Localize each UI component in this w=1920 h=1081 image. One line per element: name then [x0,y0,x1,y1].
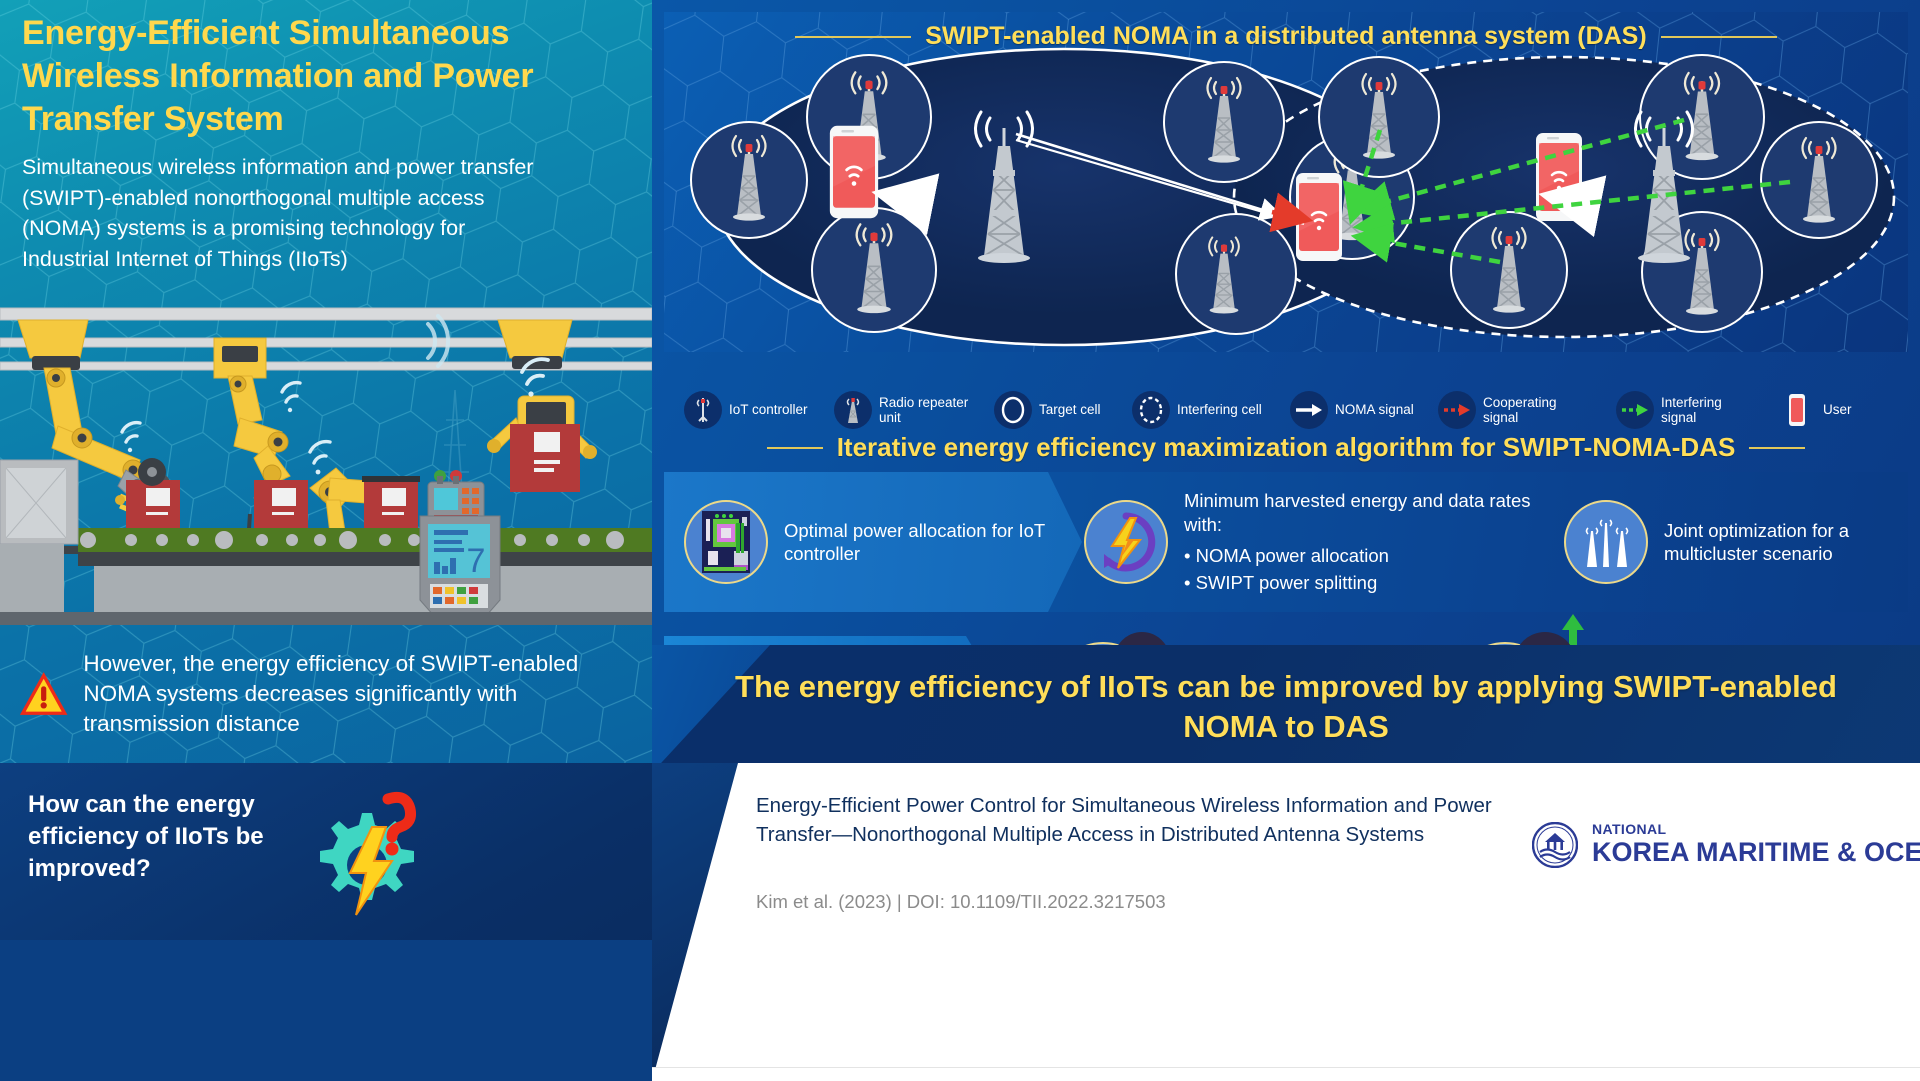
interfering-cell-icon [1132,391,1170,429]
paper-title: Energy-Efficient Power Control for Simul… [756,791,1516,849]
algorithm-step-2-bullet-1: • NOMA power allocation [1184,544,1534,567]
legend-label: Interfering signal [1661,395,1759,425]
footer-card: Energy-Efficient Power Control for Simul… [652,763,1920,1081]
legend-item-radio-repeater: Radio repeater unit [834,391,994,429]
algorithm-title: Iterative energy efficiency maximization… [837,432,1736,463]
left-column: Energy-Efficient Simultaneous Wireless I… [0,0,652,940]
iot-controller-icon [684,391,722,429]
warning-text: However, the energy efficiency of SWIPT-… [83,649,634,738]
algorithm-band: Optimal power allocation for IoT control… [664,472,1908,612]
legend-item-interfering-cell: Interfering cell [1132,391,1290,429]
legend-label: IoT controller [729,402,808,417]
title-rule-left [795,36,911,38]
gear-lightning-question-icon [300,791,440,926]
radio-repeater-icon [834,391,872,429]
legend-label: Cooperating signal [1483,395,1581,425]
noma-signal-arrow-icon [1290,391,1328,429]
algorithm-step-1-text: Optimal power allocation for IoT control… [784,519,1082,566]
conclusion-text: The energy efficiency of IIoTs can be im… [652,667,1920,748]
algorithm-step-2-bullet-2: • SWIPT power splitting [1184,571,1534,594]
numerical-band: Numerical simulations of SWIPT-NOMA-DAS … [652,628,1920,645]
algo-rule-left [767,447,823,449]
network-diagram: SWIPT-enabled NOMA in a distributed ante… [664,12,1908,352]
legend-item-cooperating-signal: Cooperating signal [1438,391,1616,429]
algo-rule-right [1749,447,1805,449]
diagram-panel: SWIPT-enabled NOMA in a distributed ante… [652,0,1920,645]
question-text: How can the energy efficiency of IIoTs b… [28,789,328,885]
paper-citation[interactable]: Kim et al. (2023) | DOI: 10.1109/TII.202… [756,891,1516,913]
legend-label: Interfering cell [1177,402,1262,417]
logo-national-label: NATIONAL [1592,821,1920,837]
legend: IoT controller Radio repeater unit Targe… [652,388,1920,432]
legend-item-interfering-signal: Interfering signal [1616,391,1778,429]
algorithm-step-1: Optimal power allocation for IoT control… [664,472,1082,612]
energy-bolt-cycle-icon [1084,500,1168,584]
algorithm-step-2-text: Minimum harvested energy and data rates … [1184,489,1534,594]
algorithm-step-3-text: Joint optimization for a multicluster sc… [1664,519,1908,566]
legend-label: NOMA signal [1335,402,1414,417]
svg-text:7: 7 [467,542,486,580]
user-phone-icon [1778,391,1816,429]
algorithm-step-2-lead: Minimum harvested energy and data rates … [1184,490,1531,534]
kmou-seal-icon [1532,822,1578,868]
infographic-root: Energy-Efficient Simultaneous Wireless I… [0,0,1920,1081]
footer-baseline [652,1067,1920,1081]
algorithm-step-2: Minimum harvested energy and data rates … [1064,472,1534,612]
legend-item-noma-signal: NOMA signal [1290,391,1438,429]
legend-label: Radio repeater unit [879,395,977,425]
algorithm-step-3: Joint optimization for a multicluster sc… [1544,472,1908,612]
antenna-array-icon [1564,500,1648,584]
intro-paragraph: Simultaneous wireless information and po… [22,152,542,274]
warning-triangle-icon [18,642,69,746]
legend-item-iot-controller: IoT controller [684,391,834,429]
legend-label: Target cell [1039,402,1101,417]
warning-block: However, the energy efficiency of SWIPT-… [0,625,652,763]
legend-label: User [1823,402,1852,417]
logo-university-name: KOREA MARITIME & OCEAN UNIVERSITY [1592,837,1920,868]
legend-item-target-cell: Target cell [994,391,1132,429]
cooperating-signal-arrow-icon [1438,391,1476,429]
circuit-board-icon [684,500,768,584]
diagram-title: SWIPT-enabled NOMA in a distributed ante… [925,22,1646,51]
title-rule-right [1661,36,1777,38]
footer-notch [652,763,738,1081]
algorithm-title-row: Iterative energy efficiency maximization… [652,432,1920,463]
stat-badge-5x: 5x [1114,632,1170,645]
factory-illustration: 7 [0,300,652,625]
numerical-heading-chevron: Numerical simulations of SWIPT-NOMA-DAS [664,636,1002,645]
legend-item-user: User [1778,391,1878,429]
page-title: Energy-Efficient Simultaneous Wireless I… [22,12,622,140]
diagram-title-row: SWIPT-enabled NOMA in a distributed ante… [664,22,1908,51]
target-cell-icon [994,391,1032,429]
question-block: How can the energy efficiency of IIoTs b… [0,763,652,940]
interfering-signal-arrow-icon [1616,391,1654,429]
university-logo: NATIONAL KOREA MARITIME & OCEAN UNIVERSI… [1532,821,1920,868]
